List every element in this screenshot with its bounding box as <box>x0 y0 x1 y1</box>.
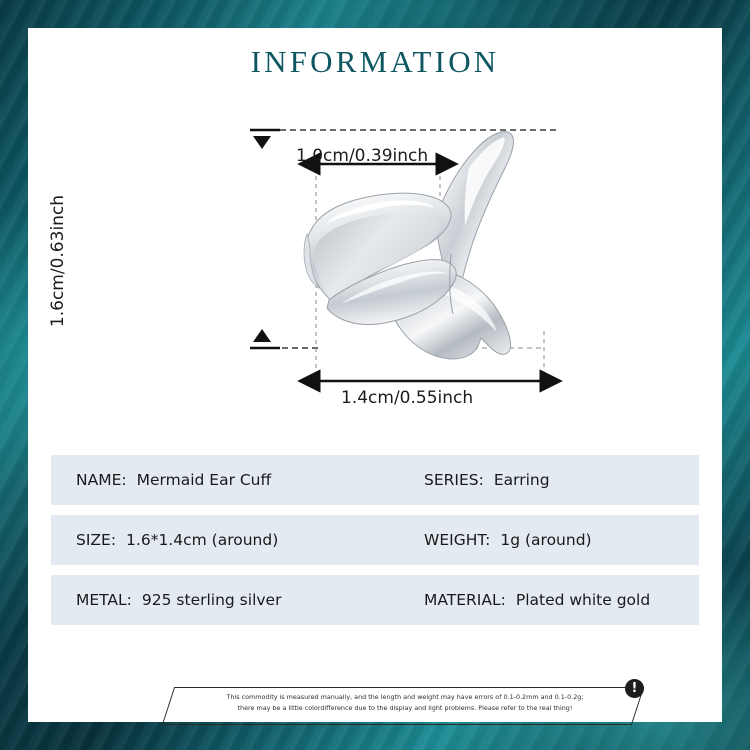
spec-key: METAL: <box>76 591 132 609</box>
spec-value: 1g (around) <box>500 531 591 549</box>
spec-value: Plated white gold <box>516 591 650 609</box>
spec-key: WEIGHT: <box>424 531 490 549</box>
table-row: NAME: Mermaid Ear Cuff SERIES: Earring <box>51 455 699 505</box>
spec-series: SERIES: Earring <box>424 471 679 489</box>
spec-key: NAME: <box>76 471 127 489</box>
spec-value: 925 sterling silver <box>142 591 282 609</box>
disclaimer-text: This commodity is measured manually, and… <box>190 692 620 714</box>
width-bottom-dimension-label: 1.4cm/0.55inch <box>341 388 473 408</box>
height-dimension-label: 1.6cm/0.63inch <box>48 186 68 336</box>
warning-icon: ! <box>625 679 644 698</box>
disclaimer-line-2: there may be a little colordifference du… <box>190 703 620 714</box>
page-title: INFORMATION <box>28 44 722 80</box>
spec-key: SERIES: <box>424 471 484 489</box>
disclaimer-banner: This commodity is measured manually, and… <box>168 683 638 729</box>
spec-value: Earring <box>494 471 550 489</box>
spec-metal: METAL: 925 sterling silver <box>76 591 424 609</box>
table-row: METAL: 925 sterling silver MATERIAL: Pla… <box>51 575 699 625</box>
spec-key: SIZE: <box>76 531 116 549</box>
spec-value: Mermaid Ear Cuff <box>137 471 272 489</box>
table-row: SIZE: 1.6*1.4cm (around) WEIGHT: 1g (aro… <box>51 515 699 565</box>
spec-key: MATERIAL: <box>424 591 506 609</box>
width-top-dimension-label: 1.0cm/0.39inch <box>296 146 428 166</box>
info-card: INFORMATION <box>28 28 722 722</box>
spec-weight: WEIGHT: 1g (around) <box>424 531 679 549</box>
specification-table: NAME: Mermaid Ear Cuff SERIES: Earring S… <box>51 455 699 635</box>
product-info-page: INFORMATION <box>0 0 750 750</box>
spec-material: MATERIAL: Plated white gold <box>424 591 679 609</box>
product-dimension-diagram: 1.0cm/0.39inch 1.6cm/0.63inch 1.4cm/0.55… <box>28 116 722 446</box>
spec-size: SIZE: 1.6*1.4cm (around) <box>76 531 424 549</box>
spec-value: 1.6*1.4cm (around) <box>126 531 278 549</box>
spec-name: NAME: Mermaid Ear Cuff <box>76 471 424 489</box>
disclaimer-line-1: This commodity is measured manually, and… <box>190 692 620 703</box>
